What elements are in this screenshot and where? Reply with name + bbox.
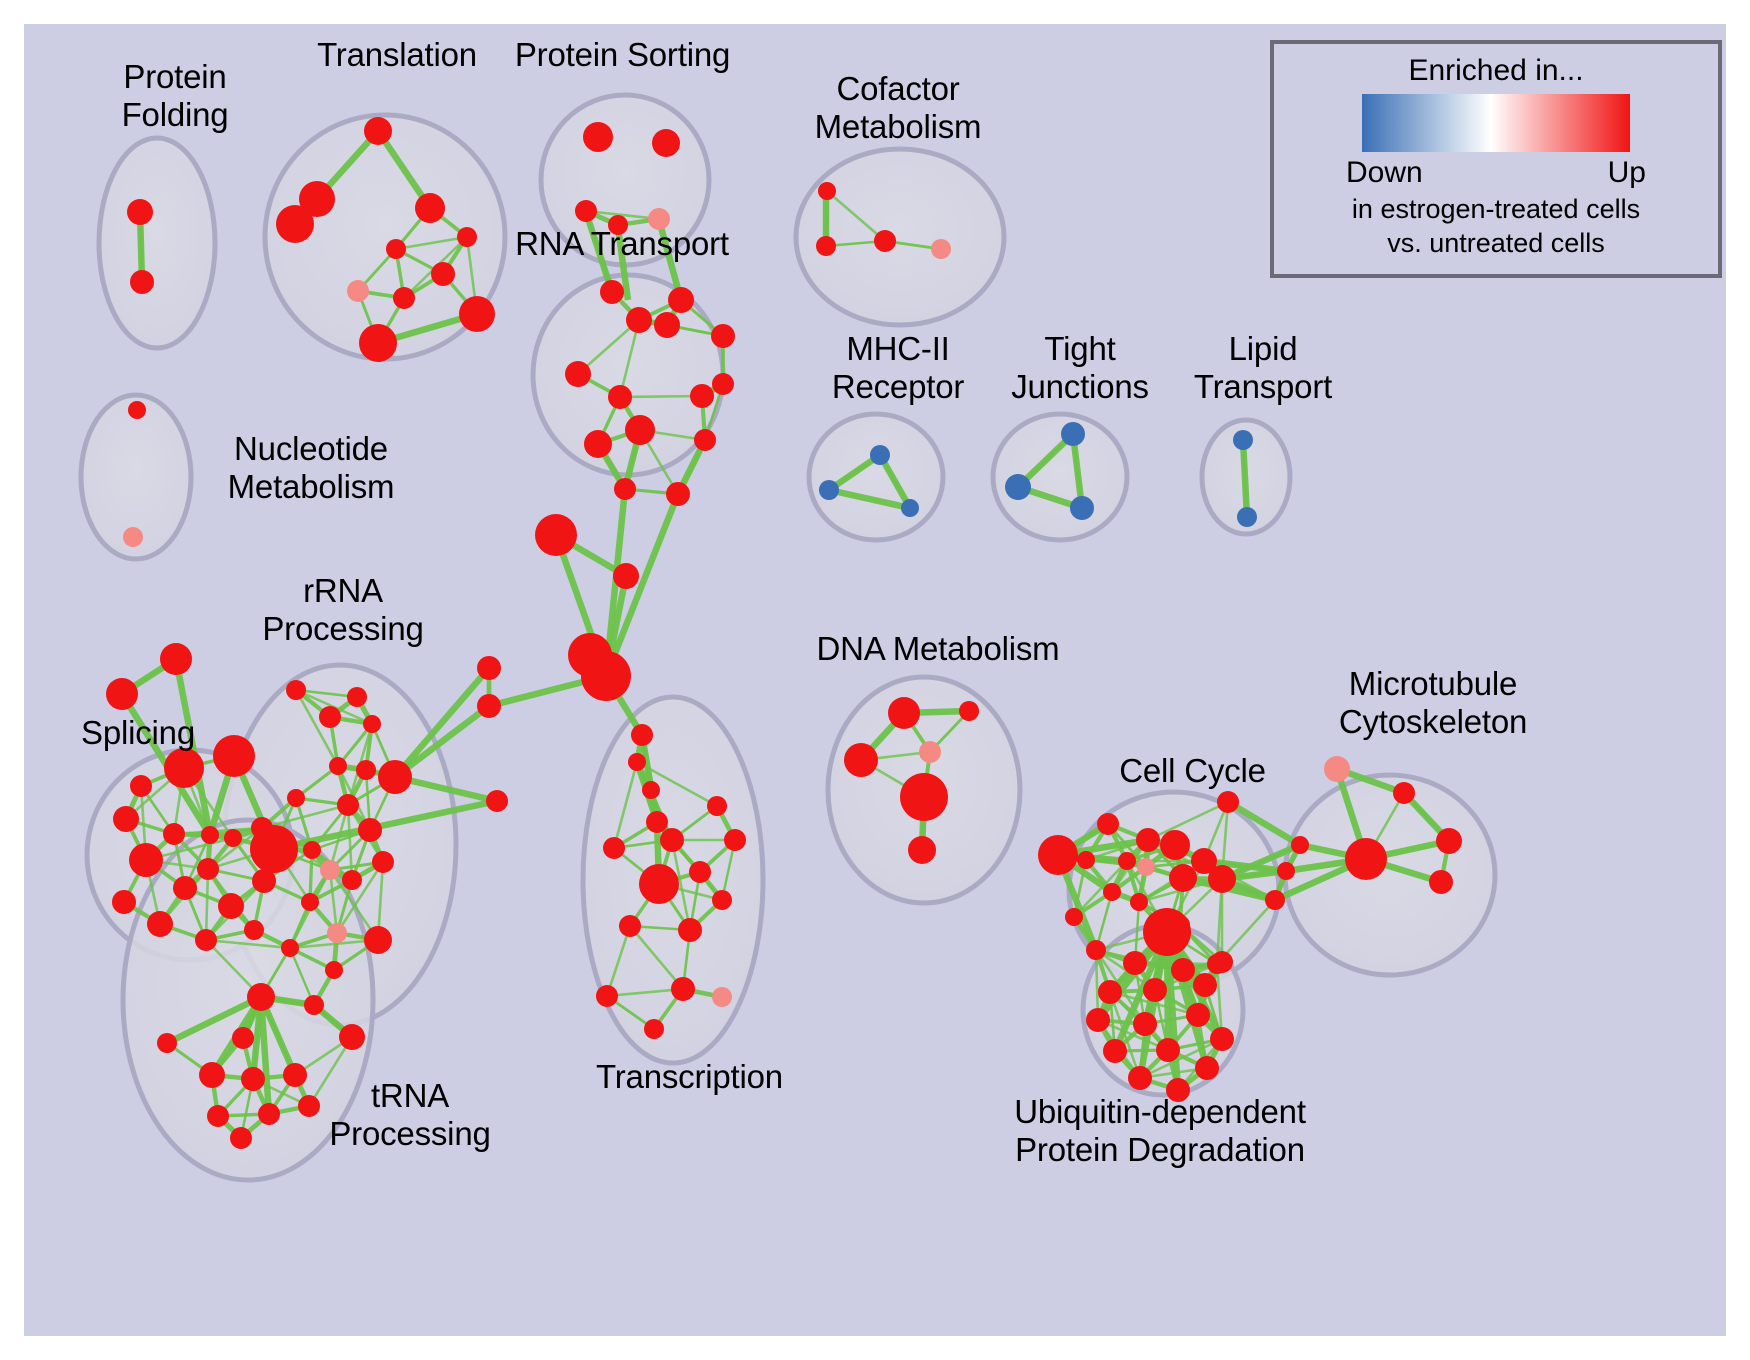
gene-set-node[interactable] (244, 920, 264, 940)
gene-set-node[interactable] (477, 694, 501, 718)
gene-set-node[interactable] (303, 841, 321, 859)
gene-set-node[interactable] (600, 280, 624, 304)
cluster-label-protein-sorting: Protein Sorting (495, 36, 750, 74)
gene-set-node[interactable] (646, 811, 668, 833)
gene-set-node[interactable] (1345, 838, 1387, 880)
gene-set-node[interactable] (660, 828, 684, 852)
cluster-ellipse-mhc-ii-receptor[interactable] (809, 414, 943, 540)
gene-set-node[interactable] (1429, 870, 1453, 894)
gene-set-node[interactable] (1210, 1027, 1234, 1051)
gene-set-node[interactable] (286, 680, 306, 700)
gene-set-node[interactable] (625, 415, 655, 445)
gene-set-node[interactable] (250, 825, 298, 873)
gene-set-node[interactable] (1133, 1012, 1157, 1036)
gene-set-node[interactable] (1171, 958, 1195, 982)
gene-set-node[interactable] (642, 781, 660, 799)
gene-set-node[interactable] (128, 401, 146, 419)
gene-set-node[interactable] (327, 923, 347, 943)
gene-set-node[interactable] (106, 678, 138, 710)
gene-set-node[interactable] (1061, 422, 1085, 446)
edge (620, 396, 702, 397)
gene-set-node[interactable] (628, 753, 646, 771)
gene-set-node[interactable] (363, 715, 381, 733)
gene-set-node[interactable] (711, 324, 735, 348)
gene-set-node[interactable] (160, 643, 192, 675)
gene-set-node[interactable] (1393, 782, 1415, 804)
legend-down-label: Down (1346, 156, 1423, 190)
gene-set-node[interactable] (164, 748, 204, 788)
gene-set-node[interactable] (1098, 980, 1122, 1004)
gene-set-node[interactable] (325, 961, 343, 979)
gene-set-node[interactable] (1291, 836, 1309, 854)
gene-set-node[interactable] (356, 760, 376, 780)
gene-set-node[interactable] (1265, 890, 1285, 910)
gene-set-node[interactable] (113, 806, 139, 832)
gene-set-node[interactable] (337, 794, 359, 816)
gene-set-node[interactable] (415, 193, 445, 223)
gene-set-node[interactable] (1208, 865, 1236, 893)
cluster-label-protein-folding: Protein Folding (80, 58, 270, 134)
gene-set-node[interactable] (712, 890, 732, 910)
gene-set-node[interactable] (844, 743, 878, 777)
gene-set-node[interactable] (870, 445, 890, 465)
legend-panel: Enriched in... Down Up in estrogen-treat… (1270, 40, 1722, 278)
gene-set-node[interactable] (304, 995, 324, 1015)
cluster-label-ubiquitin: Ubiquitin-dependent Protein Degradation (995, 1093, 1325, 1169)
gene-set-node[interactable] (584, 430, 612, 458)
gene-set-node[interactable] (1070, 496, 1094, 520)
legend-title: Enriched in... (1274, 54, 1718, 88)
gene-set-node[interactable] (230, 1127, 252, 1149)
gene-set-node[interactable] (276, 205, 314, 243)
gene-set-node[interactable] (457, 227, 477, 247)
cluster-label-tight-junctions: Tight Junctions (985, 330, 1175, 406)
cluster-label-transcription: Transcription (572, 1058, 807, 1096)
gene-set-node[interactable] (112, 890, 136, 914)
cluster-label-dna-metabolism: DNA Metabolism (808, 630, 1068, 668)
gene-set-node[interactable] (596, 985, 618, 1007)
gene-set-node[interactable] (1324, 756, 1350, 782)
gene-set-node[interactable] (1436, 828, 1462, 854)
gene-set-node[interactable] (1156, 1038, 1180, 1062)
gene-set-node[interactable] (1160, 830, 1190, 860)
cluster-label-cofactor-metabolism: Cofactor Metabolism (783, 70, 1013, 146)
cluster-ellipse-protein-folding[interactable] (99, 138, 215, 348)
gene-set-node[interactable] (619, 915, 641, 937)
gene-set-node[interactable] (364, 926, 392, 954)
legend-sublabel: in estrogen-treated cells vs. untreated … (1274, 192, 1718, 260)
gene-set-node[interactable] (671, 977, 695, 1001)
gene-set-node[interactable] (1086, 1008, 1110, 1032)
gene-set-node[interactable] (608, 385, 632, 409)
gene-set-node[interactable] (689, 861, 711, 883)
gene-set-node[interactable] (173, 876, 197, 900)
gene-set-node[interactable] (818, 182, 836, 200)
gene-set-node[interactable] (258, 1103, 280, 1125)
gene-set-node[interactable] (347, 280, 369, 302)
gene-set-node[interactable] (486, 790, 508, 812)
gene-set-node[interactable] (1103, 883, 1121, 901)
cluster-label-mhc-ii-receptor: MHC-II Receptor (803, 330, 993, 406)
gene-set-node[interactable] (199, 1062, 225, 1088)
gene-set-node[interactable] (1077, 851, 1095, 869)
gene-set-node[interactable] (197, 858, 219, 880)
gene-set-node[interactable] (1118, 852, 1136, 870)
gene-set-node[interactable] (347, 687, 367, 707)
gene-set-node[interactable] (431, 262, 455, 286)
gene-set-node[interactable] (652, 129, 680, 157)
gene-set-node[interactable] (959, 701, 979, 721)
cluster-label-cell-cycle: Cell Cycle (1100, 752, 1285, 790)
gene-set-node[interactable] (931, 239, 951, 259)
legend-up-label: Up (1608, 156, 1646, 190)
gene-set-node[interactable] (603, 837, 625, 859)
gene-set-node[interactable] (329, 757, 347, 775)
gene-set-node[interactable] (1277, 862, 1295, 880)
gene-set-node[interactable] (339, 1024, 365, 1050)
gene-set-node[interactable] (247, 983, 275, 1011)
cluster-label-trna-processing: tRNA Processing (310, 1077, 510, 1153)
gene-set-node[interactable] (613, 563, 639, 589)
gene-set-node[interactable] (690, 384, 714, 408)
gene-set-node[interactable] (694, 429, 716, 451)
gene-set-node[interactable] (1123, 951, 1147, 975)
gene-set-node[interactable] (224, 829, 242, 847)
gene-set-node[interactable] (241, 1067, 265, 1091)
gene-set-node[interactable] (1097, 813, 1119, 835)
gene-set-node[interactable] (901, 499, 919, 517)
gene-set-node[interactable] (639, 864, 679, 904)
gene-set-node[interactable] (301, 893, 319, 911)
gene-set-node[interactable] (129, 843, 163, 877)
gene-set-node[interactable] (888, 697, 920, 729)
gene-set-node[interactable] (644, 1019, 664, 1039)
gene-set-node[interactable] (386, 239, 406, 259)
gene-set-node[interactable] (201, 826, 219, 844)
gene-set-node[interactable] (283, 1063, 307, 1087)
gene-set-node[interactable] (1038, 835, 1078, 875)
gene-set-node[interactable] (130, 270, 154, 294)
gene-set-node[interactable] (1195, 1056, 1219, 1080)
gene-set-node[interactable] (565, 361, 591, 387)
cluster-label-lipid-transport: Lipid Transport (1168, 330, 1358, 406)
gene-set-node[interactable] (535, 514, 577, 556)
gene-set-node[interactable] (1143, 908, 1191, 956)
gene-set-node[interactable] (130, 775, 152, 797)
gene-set-node[interactable] (213, 735, 255, 777)
gene-set-node[interactable] (287, 789, 305, 807)
gene-set-node[interactable] (1217, 791, 1239, 813)
cluster-label-rna-transport: RNA Transport (497, 225, 747, 263)
gene-set-node[interactable] (364, 117, 392, 145)
gene-set-node[interactable] (358, 818, 382, 842)
gene-set-node[interactable] (919, 741, 941, 763)
gene-set-node[interactable] (1136, 828, 1160, 852)
gene-set-node[interactable] (908, 836, 936, 864)
gene-set-node[interactable] (207, 1105, 229, 1127)
gene-set-node[interactable] (1128, 1066, 1152, 1090)
gene-set-node[interactable] (1186, 1003, 1210, 1027)
gene-set-node[interactable] (1193, 973, 1217, 997)
gene-set-node[interactable] (319, 706, 341, 728)
gene-set-node[interactable] (575, 200, 597, 222)
gene-set-node[interactable] (477, 656, 501, 680)
gene-set-node[interactable] (1130, 893, 1148, 911)
gene-set-node[interactable] (378, 760, 412, 794)
gene-set-node[interactable] (666, 482, 690, 506)
gene-set-node[interactable] (1086, 940, 1106, 960)
cluster-ellipse-microtubule[interactable] (1285, 775, 1495, 975)
gene-set-node[interactable] (342, 870, 362, 890)
edge (1243, 440, 1247, 517)
gene-set-node[interactable] (631, 724, 653, 746)
gene-set-node[interactable] (707, 796, 727, 816)
cluster-ellipse-rna-transport[interactable] (533, 275, 723, 475)
gene-set-node[interactable] (583, 122, 613, 152)
legend-endpoints: Down Up (1346, 156, 1646, 190)
gene-set-node[interactable] (459, 296, 495, 332)
gene-set-node[interactable] (281, 939, 299, 957)
gene-set-node[interactable] (163, 823, 185, 845)
gene-set-node[interactable] (1207, 954, 1227, 974)
gene-set-node[interactable] (1005, 474, 1031, 500)
gene-set-node[interactable] (712, 987, 732, 1007)
gene-set-node[interactable] (320, 860, 340, 880)
gene-set-node[interactable] (874, 230, 896, 252)
cluster-label-nucleotide-metabolism: Nucleotide Metabolism (196, 430, 426, 506)
gene-set-node[interactable] (712, 373, 734, 395)
gene-set-node[interactable] (359, 324, 397, 362)
gene-set-node[interactable] (393, 287, 415, 309)
gene-set-node[interactable] (1137, 858, 1155, 876)
gene-set-node[interactable] (1237, 507, 1257, 527)
gene-set-node[interactable] (123, 527, 143, 547)
gene-set-node[interactable] (147, 911, 173, 937)
gene-set-node[interactable] (900, 773, 948, 821)
gene-set-node[interactable] (195, 929, 217, 951)
gene-set-node[interactable] (157, 1033, 177, 1053)
gene-set-node[interactable] (372, 851, 394, 873)
gene-set-node[interactable] (1233, 430, 1253, 450)
gene-set-node[interactable] (668, 287, 694, 313)
gene-set-node[interactable] (816, 236, 836, 256)
gene-set-node[interactable] (626, 307, 652, 333)
gene-set-node[interactable] (819, 480, 839, 500)
cluster-label-translation: Translation (282, 36, 512, 74)
gene-set-node[interactable] (218, 893, 244, 919)
gene-set-node[interactable] (724, 829, 746, 851)
cluster-label-microtubule: Microtubule Cytoskeleton (1303, 665, 1563, 741)
gene-set-node[interactable] (127, 199, 153, 225)
gene-set-node[interactable] (232, 1027, 254, 1049)
legend-color-gradient (1362, 94, 1630, 152)
cluster-label-rrna-processing: rRNA Processing (243, 572, 443, 648)
gene-set-node[interactable] (1065, 908, 1083, 926)
cluster-label-splicing: Splicing (58, 714, 218, 752)
gene-set-node[interactable] (581, 651, 631, 701)
gene-set-node[interactable] (654, 312, 680, 338)
gene-set-node[interactable] (678, 918, 702, 942)
enrichment-map-figure: Protein FoldingTranslationProtein Sortin… (0, 0, 1750, 1360)
gene-set-node[interactable] (1169, 864, 1197, 892)
gene-set-node[interactable] (1143, 978, 1167, 1002)
gene-set-node[interactable] (1103, 1039, 1127, 1063)
gene-set-node[interactable] (614, 478, 636, 500)
